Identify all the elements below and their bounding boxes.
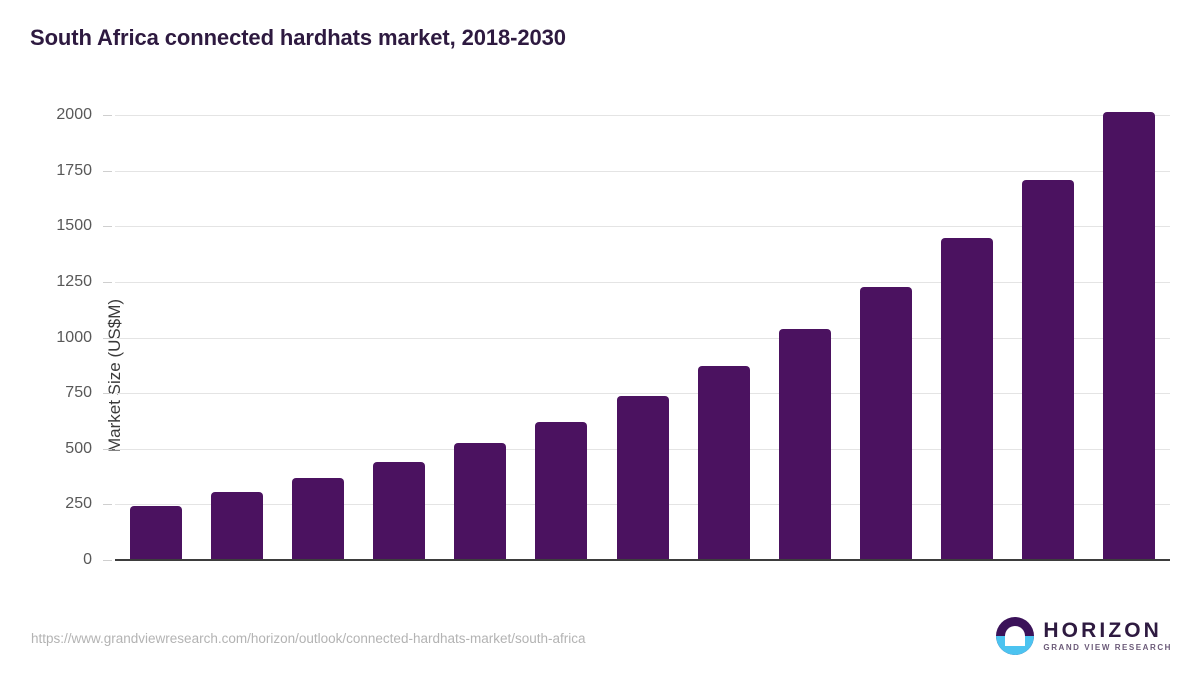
bar[interactable] [292, 478, 344, 560]
y-tick-mark [103, 171, 112, 172]
y-tick-mark [103, 226, 112, 227]
bar[interactable] [373, 462, 425, 560]
logo-wordmark: HORIZON [1043, 620, 1172, 641]
bar[interactable] [860, 287, 912, 560]
gridline [115, 115, 1170, 116]
y-axis-title: Market Size (US$M) [105, 299, 125, 452]
y-tick-mark [103, 115, 112, 116]
y-tick-label: 1250 [0, 273, 92, 291]
y-tick-mark [103, 560, 112, 561]
bar[interactable] [535, 422, 587, 560]
bar[interactable] [617, 396, 669, 560]
gridline [115, 171, 1170, 172]
y-tick-mark [103, 393, 112, 394]
bar[interactable] [211, 492, 263, 560]
bar[interactable] [698, 366, 750, 560]
gridline [115, 226, 1170, 227]
y-tick-label: 1750 [0, 162, 92, 180]
y-tick-mark [103, 338, 112, 339]
gridline [115, 393, 1170, 394]
y-tick-label: 750 [0, 384, 92, 402]
x-axis-line [115, 559, 1170, 561]
bar[interactable] [1022, 180, 1074, 560]
bar[interactable] [941, 238, 993, 560]
bar[interactable] [130, 506, 182, 561]
y-tick-mark [103, 504, 112, 505]
bar[interactable] [454, 443, 506, 560]
y-tick-label: 1500 [0, 217, 92, 235]
y-tick-mark [103, 282, 112, 283]
y-tick-label: 250 [0, 495, 92, 513]
logo-tagline: GRAND VIEW RESEARCH [1043, 644, 1172, 652]
source-url[interactable]: https://www.grandviewresearch.com/horizo… [31, 631, 586, 646]
y-tick-label: 500 [0, 440, 92, 458]
horizon-mark-icon [996, 617, 1034, 655]
plot-area: Market Size (US$M) 025050075010001250150… [115, 115, 1170, 560]
horizon-logo: HORIZON GRAND VIEW RESEARCH [996, 617, 1172, 655]
gridline [115, 338, 1170, 339]
bar[interactable] [779, 329, 831, 560]
y-tick-label: 1000 [0, 329, 92, 347]
y-tick-label: 0 [0, 551, 92, 569]
y-tick-label: 2000 [0, 106, 92, 124]
gridline [115, 282, 1170, 283]
chart-page: South Africa connected hardhats market, … [0, 0, 1200, 675]
bar[interactable] [1103, 112, 1155, 560]
y-tick-mark [103, 449, 112, 450]
page-title: South Africa connected hardhats market, … [30, 25, 566, 51]
